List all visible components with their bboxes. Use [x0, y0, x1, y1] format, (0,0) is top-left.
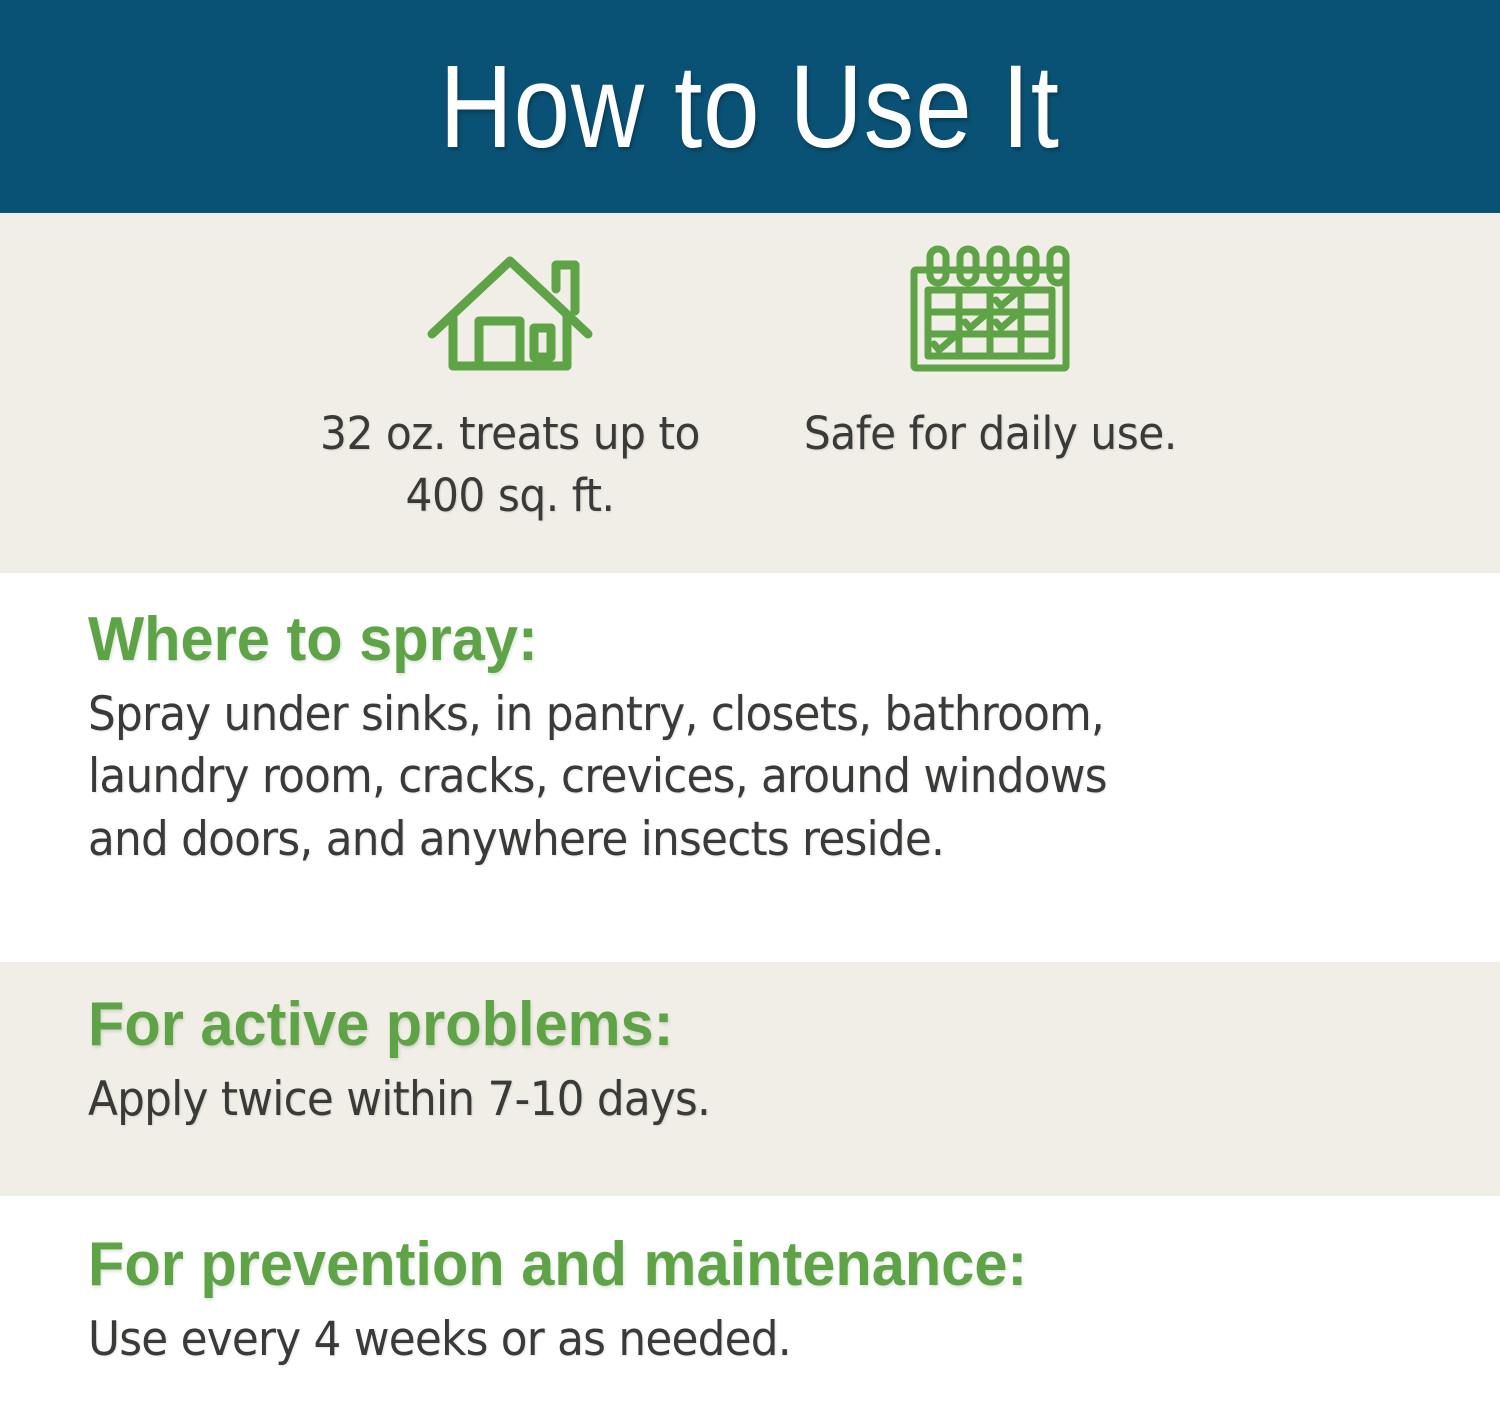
body-line: Apply twice within 7-10 days. — [88, 1069, 1319, 1132]
body-line: and doors, and anywhere insects reside. — [88, 809, 1319, 872]
section-active-problems-heading: For active problems: — [88, 992, 1359, 1059]
feature-safety: Safe for daily use. — [750, 239, 1230, 465]
section-where-to-spray-heading: Where to spray: — [88, 607, 1359, 674]
house-icon — [423, 239, 597, 379]
feature-coverage-caption: 32 oz. treats up to 400 sq. ft. — [284, 403, 735, 527]
body-line: laundry room, cracks, crevices, around w… — [88, 746, 1319, 809]
body-line: Spray under sinks, in pantry, closets, b… — [88, 684, 1319, 747]
section-prevention-maintenance-body: Use every 4 weeks or as needed. — [88, 1309, 1319, 1372]
feature-safety-caption: Safe for daily use. — [804, 403, 1177, 465]
feature-safety-line-1: Safe for — [804, 407, 966, 460]
section-where-to-spray-body: Spray under sinks, in pantry, closets, b… — [88, 684, 1319, 872]
section-active-problems-body: Apply twice within 7-10 days. — [88, 1069, 1319, 1132]
features-band: 32 oz. treats up to 400 sq. ft. — [0, 213, 1500, 573]
section-prevention-maintenance: For prevention and maintenance: Use ever… — [0, 1196, 1500, 1403]
body-line: Use every 4 weeks or as needed. — [88, 1309, 1319, 1372]
feature-coverage: 32 oz. treats up to 400 sq. ft. — [270, 239, 750, 527]
section-where-to-spray: Where to spray: Spray under sinks, in pa… — [0, 573, 1500, 962]
section-prevention-maintenance-heading: For prevention and maintenance: — [88, 1232, 1359, 1299]
section-active-problems: For active problems: Apply twice within … — [0, 962, 1500, 1196]
header-band: How to Use It — [0, 0, 1500, 213]
feature-coverage-line-1: 32 oz. treats up — [320, 407, 645, 460]
calendar-icon — [890, 239, 1090, 379]
page-title: How to Use It — [440, 48, 1060, 166]
how-to-use-infographic: How to Use It — [0, 0, 1500, 1403]
feature-safety-line-2: daily use. — [978, 407, 1176, 460]
